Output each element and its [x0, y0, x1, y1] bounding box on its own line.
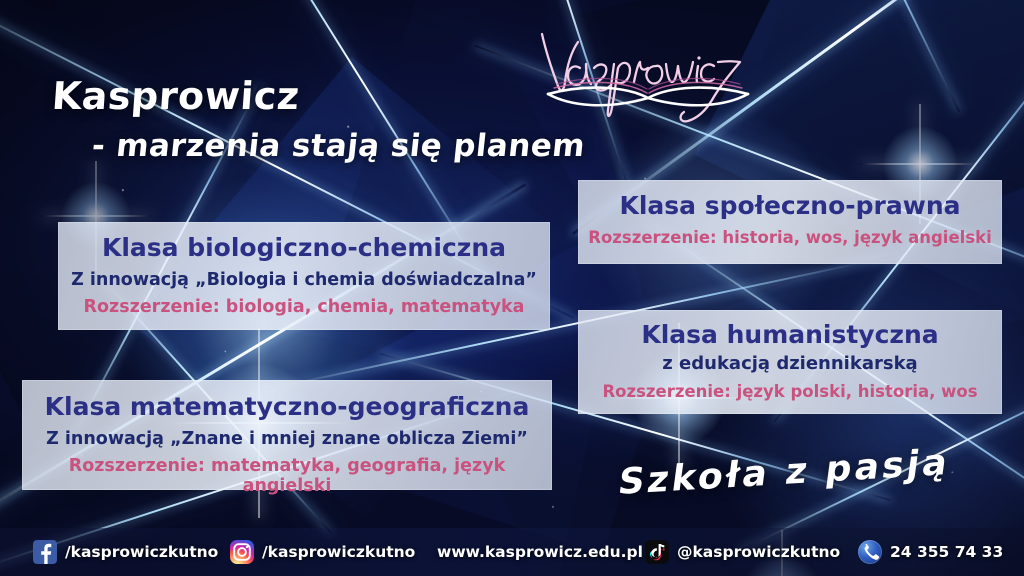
footer-facebook[interactable]: /kasprowiczkutno [33, 540, 218, 564]
class-card-humanistyczna[interactable]: Klasa humanistyczna z edukacją dziennika… [578, 310, 1002, 414]
class-title: Klasa matematyczno-geograficzna [32, 393, 542, 421]
class-subtitle: z edukacją dziennikarską [588, 354, 992, 375]
footer-website[interactable]: www.kasprowicz.edu.pl [437, 543, 643, 561]
footer-label: /kasprowiczkutno [65, 543, 218, 561]
footer-bar: /kasprowiczkutno /kasprowiczkutno www.ka… [0, 528, 1024, 576]
headline-line-1: Kasprowicz [50, 74, 586, 118]
footer-label: 24 355 74 33 [890, 543, 1003, 561]
footer-label: www.kasprowicz.edu.pl [437, 543, 643, 561]
tiktok-icon [645, 540, 669, 564]
class-extension: Rozszerzenie: biologia, chemia, matematy… [68, 297, 540, 317]
class-extension: Rozszerzenie: język polski, historia, wo… [588, 383, 992, 402]
footer-label: /kasprowiczkutno [262, 543, 415, 561]
facebook-icon [33, 540, 57, 564]
class-card-spoleczno-prawna[interactable]: Klasa społeczno-prawna Rozszerzenie: his… [578, 180, 1002, 264]
class-card-biologiczno-chemiczna[interactable]: Klasa biologiczno-chemiczna Z innowacją … [58, 222, 550, 330]
footer-label: @kasprowiczkutno [677, 543, 840, 561]
class-title: Klasa biologiczno-chemiczna [68, 234, 540, 262]
class-extension: Rozszerzenie: historia, wos, język angie… [588, 229, 992, 248]
class-extension: Rozszerzenie: matematyka, geografia, jęz… [32, 456, 542, 496]
footer-tiktok[interactable]: @kasprowiczkutno [645, 540, 840, 564]
class-title: Klasa społeczno-prawna [588, 192, 992, 220]
phone-icon [858, 540, 882, 564]
class-subtitle: Z innowacją „Znane i mniej znane oblicza… [32, 429, 542, 449]
poster-root: Kasprowicz - marzenia stają się planem [0, 0, 1024, 576]
instagram-icon [230, 540, 254, 564]
class-subtitle: Z innowacją „Biologia i chemia doświadcz… [68, 270, 540, 290]
class-card-matematyczno-geograficzna[interactable]: Klasa matematyczno-geograficzna Z innowa… [22, 380, 552, 490]
headline-line-2: - marzenia stają się planem [90, 128, 587, 164]
footer-instagram[interactable]: /kasprowiczkutno [230, 540, 415, 564]
class-title: Klasa humanistyczna [588, 321, 992, 349]
headline: Kasprowicz - marzenia stają się planem [52, 74, 585, 164]
footer-phone[interactable]: 24 355 74 33 [858, 540, 1003, 564]
kasprowicz-logo [530, 18, 830, 130]
